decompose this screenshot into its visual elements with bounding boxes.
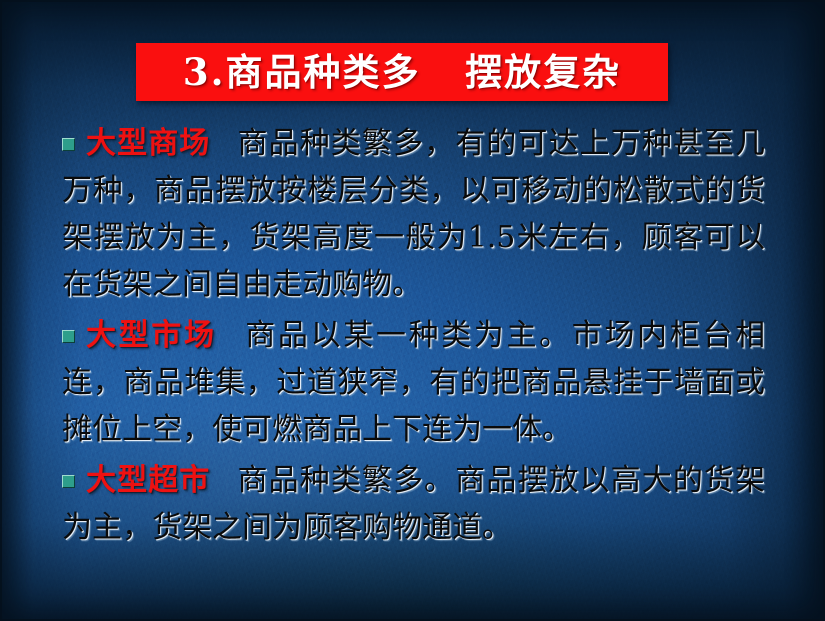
bullet-item: 大型商场商品种类繁多，有的可达上万种甚至几万种，商品摆放按楼层分类，以可移动的松… — [0, 120, 825, 308]
slide-body: 大型商场商品种类繁多，有的可达上万种甚至几万种，商品摆放按楼层分类，以可移动的松… — [0, 120, 825, 555]
presentation-slide: 3.商品种类多 摆放复杂 大型商场商品种类繁多，有的可达上万种甚至几万种，商品摆… — [0, 0, 825, 621]
bullet-lead-label: 大型市场 — [86, 318, 217, 353]
bullet-paragraph: 大型商场商品种类繁多，有的可达上万种甚至几万种，商品摆放按楼层分类，以可移动的松… — [62, 120, 765, 308]
bullet-paragraph: 大型市场商品以某一种类为主。市场内柜台相连，商品堆集，过道狭窄，有的把商品悬挂于… — [62, 312, 765, 453]
bullet-item: 大型超市商品种类繁多。商品摆放以高大的货架为主，货架之间为顾客购物通道。 — [0, 457, 825, 551]
bullet-paragraph: 大型超市商品种类繁多。商品摆放以高大的货架为主，货架之间为顾客购物通道。 — [62, 457, 765, 551]
slide-title: 3.商品种类多 摆放复杂 — [183, 54, 621, 91]
square-bullet-icon — [62, 138, 75, 151]
bullet-item: 大型市场商品以某一种类为主。市场内柜台相连，商品堆集，过道狭窄，有的把商品悬挂于… — [0, 312, 825, 453]
square-bullet-icon — [62, 330, 75, 343]
square-bullet-icon — [62, 475, 75, 488]
bullet-lead-label: 大型超市 — [86, 463, 210, 498]
bullet-lead-label: 大型商场 — [86, 126, 210, 161]
title-banner: 3.商品种类多 摆放复杂 — [136, 43, 668, 101]
